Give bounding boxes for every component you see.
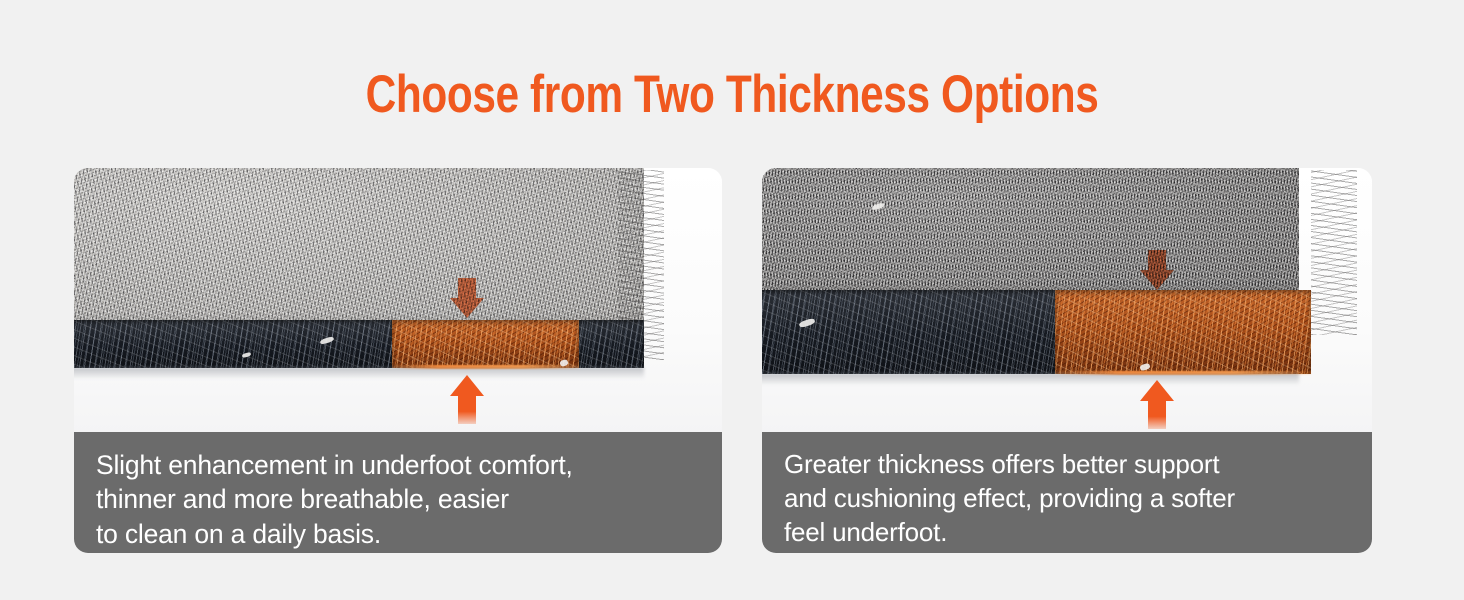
- arrow-up-icon: [1140, 380, 1174, 429]
- felt-highlighted-thickness-band: [392, 320, 580, 368]
- felt-highlighted-thickness-band: [1055, 290, 1311, 374]
- caption-bar-thin: Slight enhancement in underfoot comfort,…: [74, 432, 722, 553]
- page-title: Choose from Two Thickness Options: [366, 68, 1099, 121]
- thickness-option-card-thin: Slight enhancement in underfoot comfort,…: [74, 168, 722, 553]
- slab-drop-shadow: [74, 367, 644, 379]
- thickness-option-card-thick: Greater thickness offers better support …: [762, 168, 1372, 553]
- caption-bar-thick: Greater thickness offers better support …: [762, 432, 1372, 553]
- arrow-down-icon: [1140, 250, 1174, 290]
- product-photo-thick: [762, 168, 1372, 436]
- felt-top-layer: [74, 168, 644, 326]
- caption-text-thin: Slight enhancement in underfoot comfort,…: [96, 448, 722, 551]
- arrow-down-icon: [450, 278, 484, 318]
- page-title-container: Choose from Two Thickness Options: [0, 68, 1464, 121]
- felt-top-layer: [762, 168, 1299, 296]
- caption-text-thick: Greater thickness offers better support …: [784, 448, 1372, 549]
- slab-drop-shadow: [762, 373, 1299, 385]
- arrow-up-icon: [450, 375, 484, 424]
- product-photo-thin: [74, 168, 722, 436]
